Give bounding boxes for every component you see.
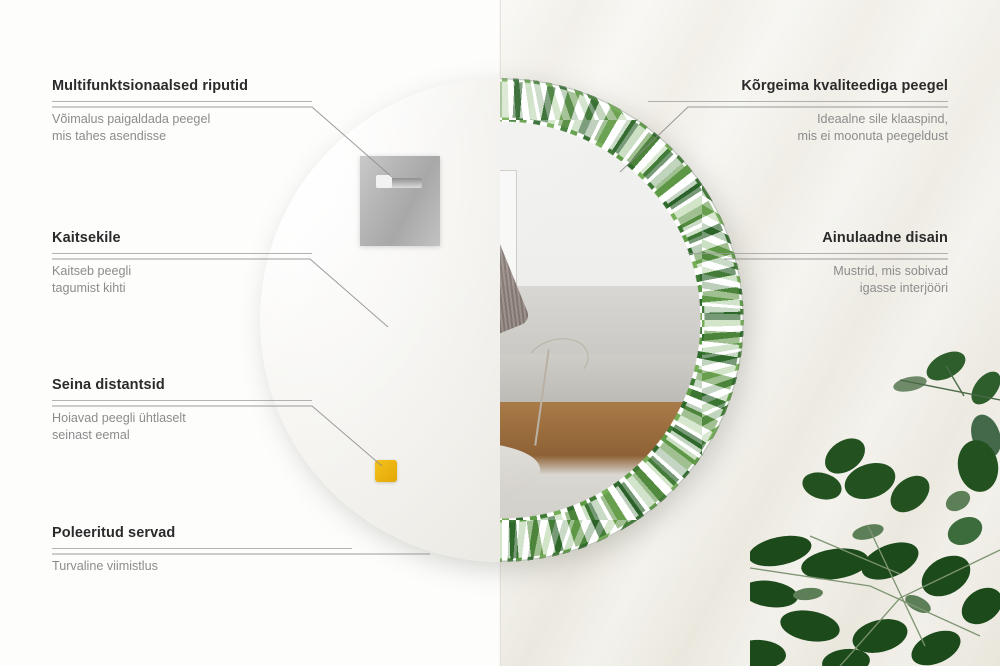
callout-title: Poleeritud servad xyxy=(52,525,352,541)
callout-seina-distantsid: Seina distantsid Hoiavad peegli ühtlasel… xyxy=(52,377,312,444)
callout-ainulaadne-disain: Ainulaadne disain Mustrid, mis sobivad i… xyxy=(688,230,948,297)
callout-rule xyxy=(52,101,312,102)
callout-description: Turvaline viimistlus xyxy=(52,558,352,575)
callout-rule xyxy=(52,253,312,254)
callout-title: Kõrgeima kvaliteediga peegel xyxy=(648,78,948,94)
callout-kaitsekile: Kaitsekile Kaitseb peegli tagumist kihti xyxy=(52,230,312,297)
mirror-front-panel xyxy=(500,78,744,562)
callout-korgeima-kvaliteediga-peegel: Kõrgeima kvaliteediga peegel Ideaalne si… xyxy=(648,78,948,145)
callout-description: Kaitseb peegli tagumist kihti xyxy=(52,263,312,297)
hanger-slot xyxy=(376,178,422,188)
callout-rule xyxy=(648,101,948,102)
callout-rule xyxy=(52,400,312,401)
callout-rule xyxy=(688,253,948,254)
callout-description: Mustrid, mis sobivad igasse interjööri xyxy=(688,263,948,297)
callout-poleeritud-servad: Poleeritud servad Turvaline viimistlus xyxy=(52,525,352,575)
callout-title: Ainulaadne disain xyxy=(688,230,948,246)
callout-description: Ideaalne sile klaaspind, mis ei moonuta … xyxy=(648,111,948,145)
callout-title: Kaitsekile xyxy=(52,230,312,246)
wall-spacer xyxy=(375,460,397,482)
callout-rule xyxy=(52,548,352,549)
mirror-edge xyxy=(500,78,744,562)
hanger-plate xyxy=(360,156,440,246)
callout-title: Multifunktsionaalsed riputid xyxy=(52,78,312,94)
callout-title: Seina distantsid xyxy=(52,377,312,393)
infographic-stage: Multifunktsionaalsed riputid Võimalus pa… xyxy=(0,0,1000,666)
callout-multifunktsionaalsed-riputid: Multifunktsionaalsed riputid Võimalus pa… xyxy=(52,78,312,145)
callout-description: Võimalus paigaldada peegel mis tahes ase… xyxy=(52,111,312,145)
callout-description: Hoiavad peegli ühtlaselt seinast eemal xyxy=(52,410,312,444)
product-mirror xyxy=(260,78,744,562)
mirror-back-panel xyxy=(260,78,500,562)
foliage-decoration xyxy=(750,336,1000,666)
